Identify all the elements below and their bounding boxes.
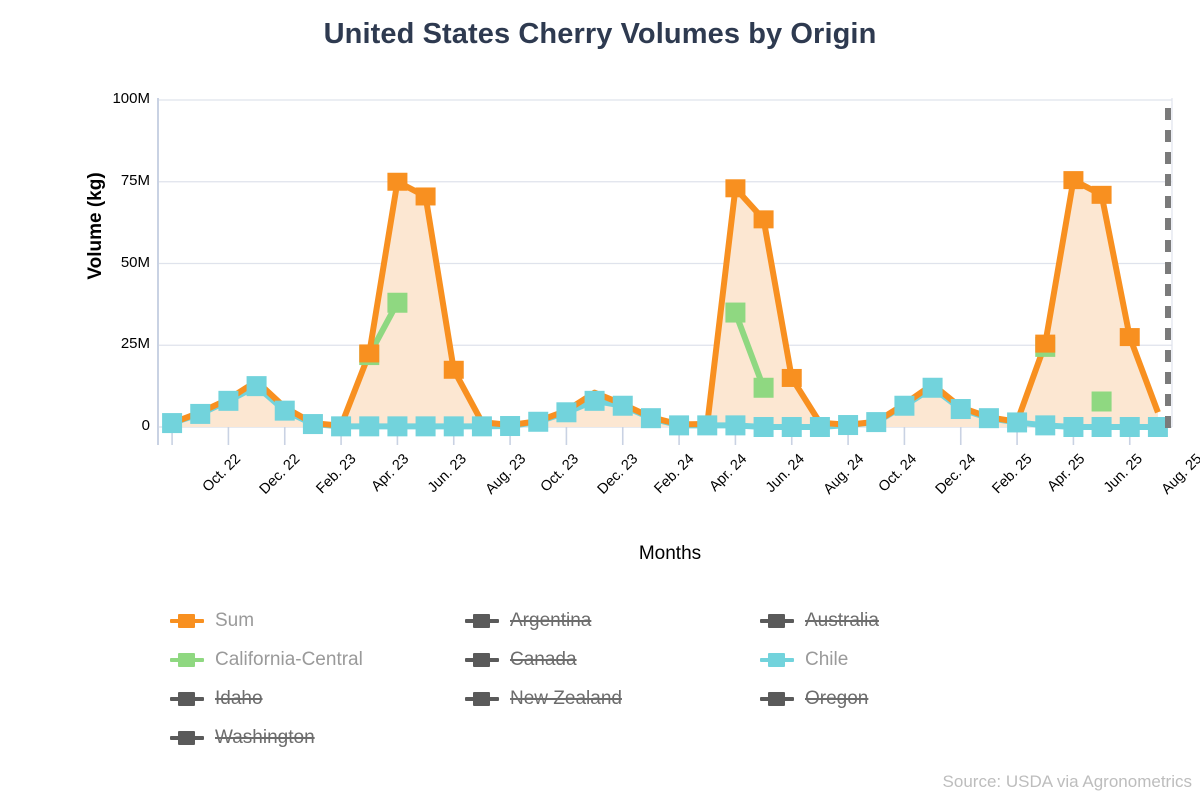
legend-label: Canada <box>510 649 577 671</box>
x-tick-label: Apr. 23 <box>369 451 413 495</box>
legend-item-idaho[interactable]: Idaho <box>170 686 465 712</box>
x-tick-label: Apr. 25 <box>1045 451 1089 495</box>
chart-legend: SumArgentinaAustraliaCalifornia-CentralC… <box>170 608 1070 751</box>
x-tick-label: Jun. 24 <box>763 451 808 496</box>
legend-label: Washington <box>215 727 315 749</box>
legend-label: Sum <box>215 610 254 632</box>
x-tick-label: Apr. 24 <box>707 451 751 495</box>
x-tick-label: Aug. 24 <box>820 451 867 498</box>
legend-marker-icon <box>465 614 499 628</box>
source-note: Source: USDA via Agronometrics <box>943 772 1192 792</box>
y-axis-title: Volume (kg) <box>85 126 107 326</box>
x-tick-label: Oct. 22 <box>200 451 244 495</box>
x-axis-ticks: Oct. 22Dec. 22Feb. 23Apr. 23Jun. 23Aug. … <box>0 0 1200 560</box>
x-tick-label: Jun. 25 <box>1101 451 1146 496</box>
legend-marker-icon <box>170 653 204 667</box>
x-tick-label: Dec. 24 <box>933 451 980 498</box>
legend-marker-icon <box>760 614 794 628</box>
legend-item-sum[interactable]: Sum <box>170 608 465 634</box>
x-tick-label: Jun. 23 <box>425 451 470 496</box>
legend-marker-icon <box>760 653 794 667</box>
legend-marker-icon <box>170 731 204 745</box>
legend-label: Chile <box>805 649 848 671</box>
x-tick-label: Oct. 24 <box>876 451 920 495</box>
x-tick-label: Dec. 23 <box>595 451 642 498</box>
x-tick-label: Oct. 23 <box>538 451 582 495</box>
legend-label: Idaho <box>215 688 263 710</box>
x-tick-label: Feb. 23 <box>313 451 359 497</box>
legend-label: Australia <box>805 610 879 632</box>
legend-item-argentina[interactable]: Argentina <box>465 608 760 634</box>
legend-item-oregon[interactable]: Oregon <box>760 686 1055 712</box>
legend-item-new-zealand[interactable]: New Zealand <box>465 686 760 712</box>
chart-container: United States Cherry Volumes by Origin 0… <box>0 0 1200 800</box>
legend-marker-icon <box>170 614 204 628</box>
x-tick-label: Aug. 23 <box>482 451 529 498</box>
x-tick-label: Feb. 24 <box>651 451 697 497</box>
legend-item-washington[interactable]: Washington <box>170 725 465 751</box>
legend-item-california-central[interactable]: California-Central <box>170 647 465 673</box>
legend-item-canada[interactable]: Canada <box>465 647 760 673</box>
legend-item-chile[interactable]: Chile <box>760 647 1055 673</box>
x-tick-label: Feb. 25 <box>989 451 1035 497</box>
x-tick-label: Dec. 22 <box>257 451 304 498</box>
legend-label: Oregon <box>805 688 868 710</box>
legend-item-australia[interactable]: Australia <box>760 608 1055 634</box>
legend-label: New Zealand <box>510 688 622 710</box>
legend-marker-icon <box>760 692 794 706</box>
legend-marker-icon <box>465 692 499 706</box>
legend-label: Argentina <box>510 610 591 632</box>
legend-label: California-Central <box>215 649 363 671</box>
legend-marker-icon <box>170 692 204 706</box>
legend-marker-icon <box>465 653 499 667</box>
x-tick-label: Aug. 25 <box>1158 451 1200 498</box>
x-axis-title: Months <box>460 543 880 565</box>
